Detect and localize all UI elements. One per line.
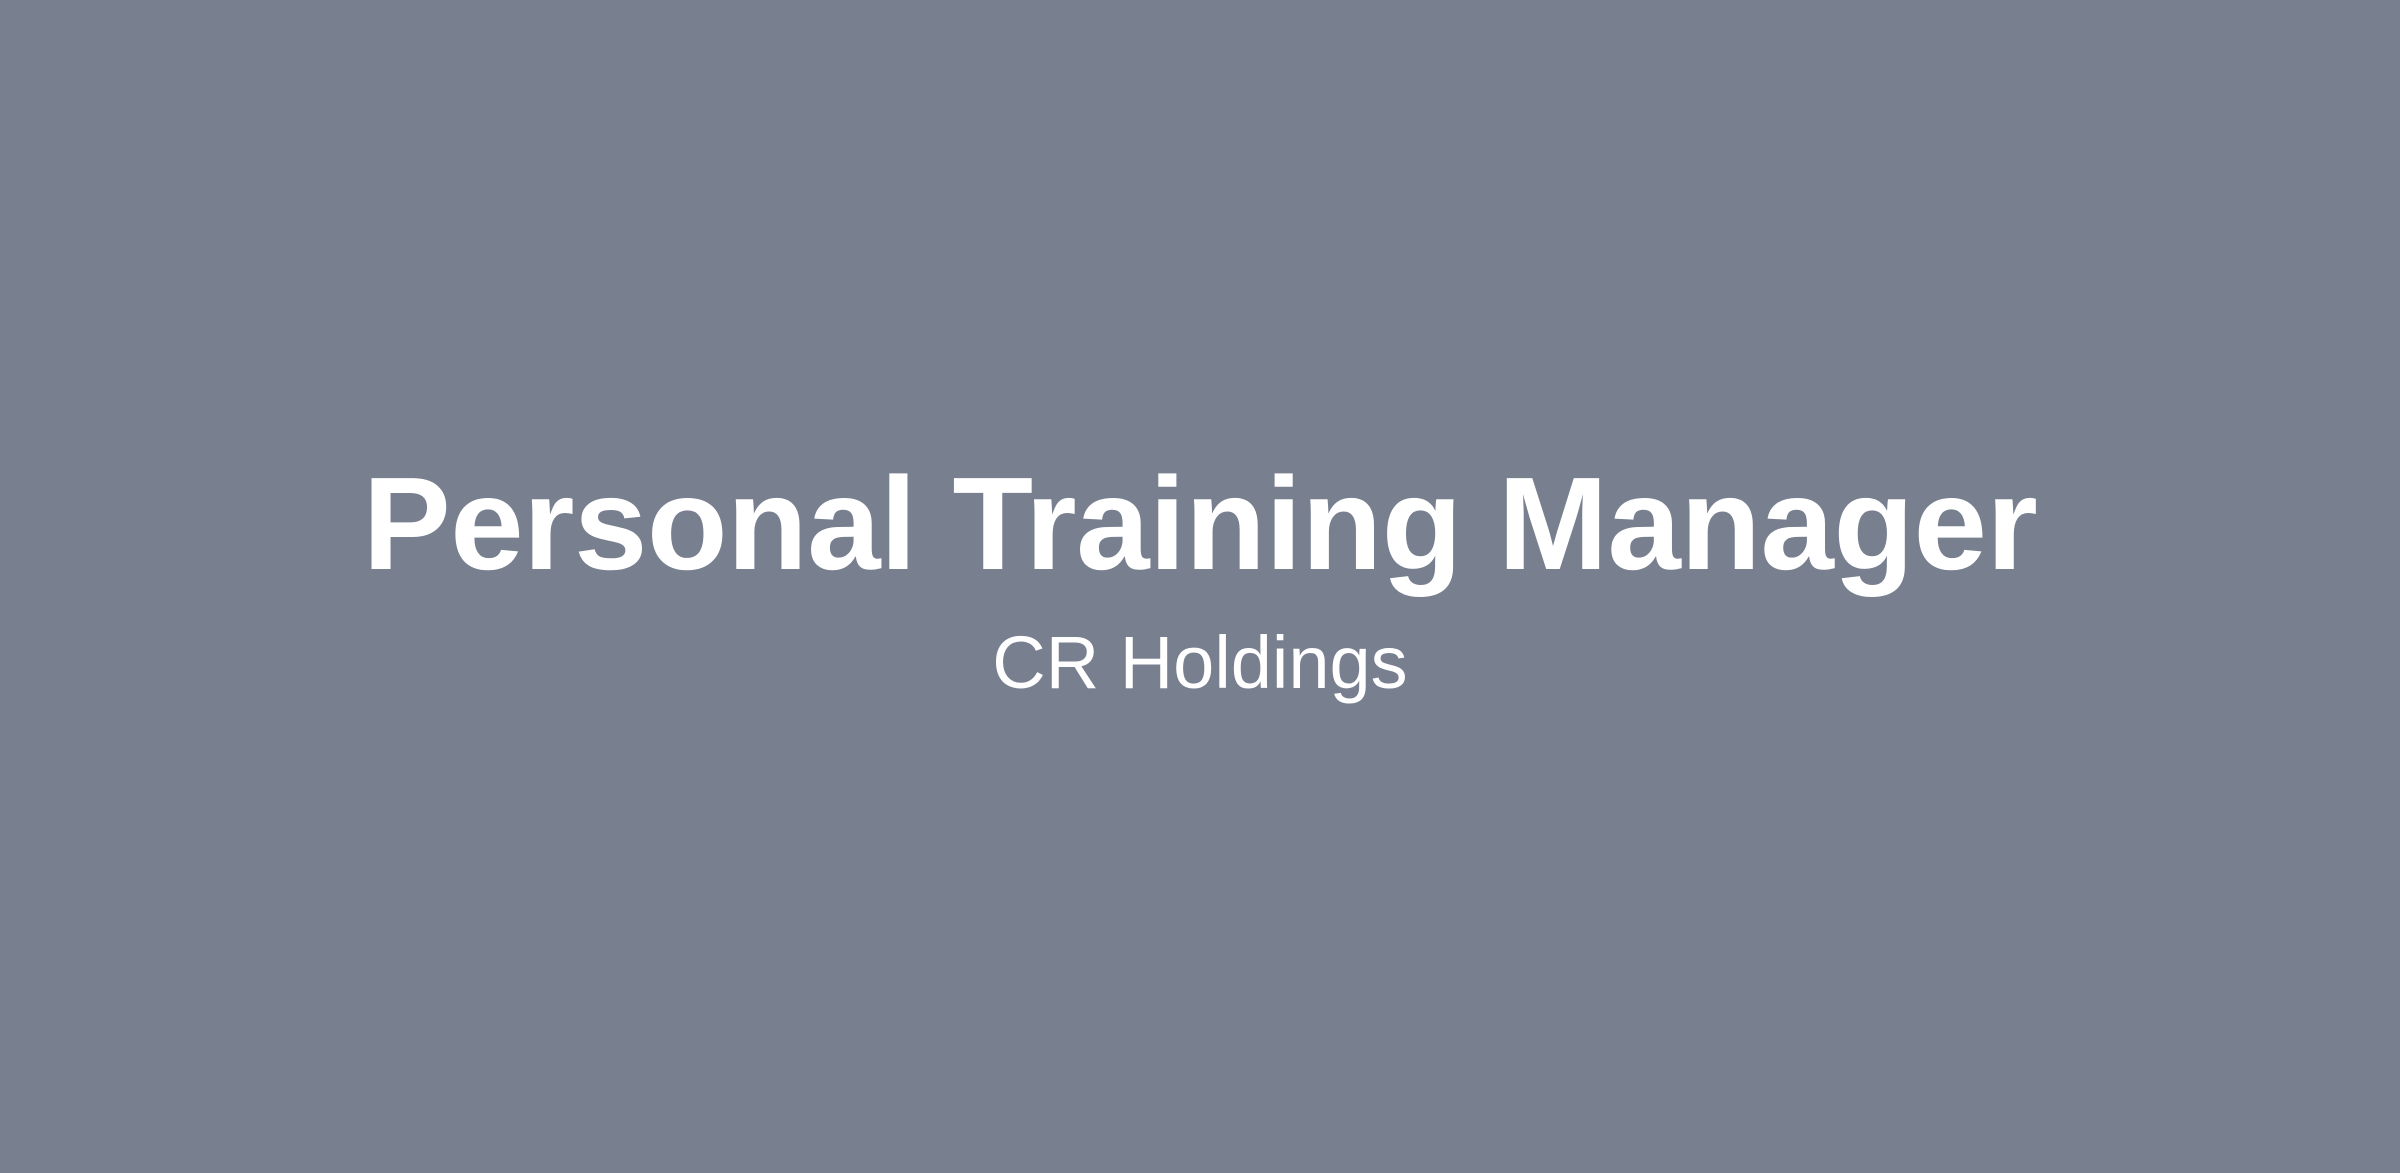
app-subtitle: CR Holdings [992,626,1407,700]
app-title: Personal Training Manager [363,458,2038,590]
splash-content: Personal Training Manager CR Holdings [363,458,2038,700]
splash-screen: Personal Training Manager CR Holdings [0,0,2400,1173]
